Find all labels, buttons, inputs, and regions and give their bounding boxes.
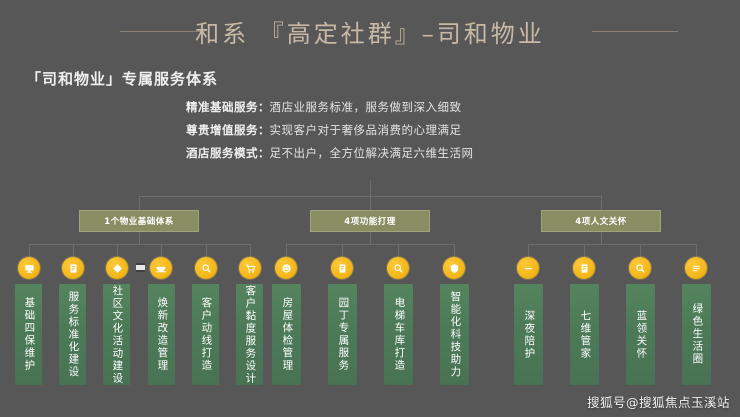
bullet-separator: ： bbox=[258, 145, 270, 161]
category-box-1[interactable]: 1个物业基础体系 bbox=[79, 210, 199, 232]
list-item: 尊贵增值服务 ： 实现客户对于奢侈品消费的心理满足 bbox=[186, 122, 606, 145]
bullet-label: 酒店服务模式 bbox=[186, 145, 258, 161]
clipboard-icon[interactable] bbox=[62, 257, 84, 279]
bullet-text: 实现客户对于奢侈品消费的心理满足 bbox=[270, 122, 462, 138]
service-bar-label: 房屋体检管理 bbox=[280, 297, 294, 372]
watermark: 搜狐号@搜狐焦点玉溪站 bbox=[587, 392, 730, 411]
connector-root-drop-3 bbox=[601, 196, 602, 210]
minus-icon[interactable] bbox=[517, 257, 539, 279]
slide-canvas: 和系 『高定社群』–司和物业 「司和物业」专属服务体系 精准基础服务 ： 酒店业… bbox=[0, 0, 740, 417]
title-row: 和系 『高定社群』–司和物业 bbox=[0, 14, 740, 48]
service-bar-label: 客户动线打造 bbox=[199, 297, 213, 372]
service-bar[interactable]: 焕新改造管理 bbox=[148, 284, 175, 385]
list-icon[interactable] bbox=[685, 257, 707, 279]
connector-g3-drop-2 bbox=[584, 244, 585, 258]
category-box-2[interactable]: 4项功能打理 bbox=[310, 210, 430, 232]
service-bar-label: 服务标准化建设 bbox=[66, 291, 80, 379]
service-bar[interactable]: 服务标准化建设 bbox=[59, 284, 86, 385]
service-bar-label: 七维管家 bbox=[578, 310, 592, 360]
connector-g2-stem bbox=[370, 232, 371, 244]
connector-root-drop-2 bbox=[370, 196, 371, 210]
monitor-icon[interactable] bbox=[18, 257, 40, 279]
connector-g3-bus bbox=[528, 244, 696, 245]
category-box-3-label: 4项人文关怀 bbox=[575, 215, 626, 227]
smile-icon[interactable] bbox=[275, 257, 297, 279]
diamond-icon[interactable] bbox=[106, 257, 128, 279]
decor-artifact bbox=[136, 263, 145, 272]
service-bar[interactable]: 七维管家 bbox=[570, 284, 599, 385]
bullet-separator: ： bbox=[258, 99, 270, 115]
service-bar-label: 蓝领关怀 bbox=[634, 310, 648, 360]
connector-g1-drop-3 bbox=[117, 244, 118, 258]
connector-g1-drop-5 bbox=[206, 244, 207, 258]
category-box-2-label: 4项功能打理 bbox=[344, 215, 395, 227]
connector-g3-drop-4 bbox=[696, 244, 697, 258]
service-bar-label: 智能化科技助力 bbox=[448, 291, 462, 379]
service-bar[interactable]: 电梯车库打造 bbox=[384, 284, 413, 385]
service-bar[interactable]: 绿色生活圈 bbox=[682, 284, 711, 385]
category-box-1-label: 1个物业基础体系 bbox=[104, 215, 173, 227]
service-bar[interactable]: 客户动线打造 bbox=[192, 284, 219, 385]
service-bar-label: 园丁专属服务 bbox=[336, 297, 350, 372]
service-bar[interactable]: 基础四保维护 bbox=[15, 284, 42, 385]
connector-g1-stem bbox=[139, 232, 140, 244]
service-description-list: 精准基础服务 ： 酒店业服务标准，服务做到深入细致 尊贵增值服务 ： 实现客户对… bbox=[186, 99, 606, 168]
bowl-icon[interactable] bbox=[150, 257, 172, 279]
service-bar-label: 焕新改造管理 bbox=[155, 297, 169, 372]
cart-icon[interactable] bbox=[239, 257, 261, 279]
service-bar[interactable]: 房屋体检管理 bbox=[272, 284, 301, 385]
bullet-text: 足不出户，全方位解决满足六维生活网 bbox=[270, 145, 474, 161]
connector-g2-drop-2 bbox=[342, 244, 343, 258]
search-icon[interactable] bbox=[195, 257, 217, 279]
service-bar[interactable]: 深夜陪护 bbox=[514, 284, 543, 385]
document-icon[interactable] bbox=[331, 257, 353, 279]
connector-g3-stem bbox=[601, 232, 602, 244]
list-item: 酒店服务模式 ： 足不出户，全方位解决满足六维生活网 bbox=[186, 145, 606, 168]
bullet-label: 尊贵增值服务 bbox=[186, 122, 258, 138]
connector-g1-drop-6 bbox=[250, 244, 251, 258]
search-icon[interactable] bbox=[629, 257, 651, 279]
service-bar-label: 客户黏度服务设计 bbox=[243, 285, 257, 385]
bullet-label: 精准基础服务 bbox=[186, 99, 258, 115]
bullet-separator: ： bbox=[258, 122, 270, 138]
service-bar-label: 绿色生活圈 bbox=[690, 303, 704, 366]
connector-g2-drop-1 bbox=[286, 244, 287, 258]
connector-g2-drop-4 bbox=[454, 244, 455, 258]
connector-g1-bus bbox=[29, 244, 250, 245]
connector-g1-drop-2 bbox=[73, 244, 74, 258]
connector-g2-drop-3 bbox=[398, 244, 399, 258]
connector-g1-drop-4 bbox=[161, 244, 162, 258]
service-bar[interactable]: 蓝领关怀 bbox=[626, 284, 655, 385]
section-subtitle: 「司和物业」专属服务体系 bbox=[26, 68, 218, 89]
category-box-3[interactable]: 4项人文关怀 bbox=[541, 210, 661, 232]
service-bar[interactable]: 园丁专属服务 bbox=[328, 284, 357, 385]
search-icon[interactable] bbox=[387, 257, 409, 279]
service-bar[interactable]: 客户黏度服务设计 bbox=[236, 284, 263, 385]
page-title: 和系 『高定社群』–司和物业 bbox=[195, 14, 545, 49]
connector-g3-drop-1 bbox=[528, 244, 529, 258]
shield-icon[interactable] bbox=[443, 257, 465, 279]
document-icon[interactable] bbox=[573, 257, 595, 279]
service-bar[interactable]: 智能化科技助力 bbox=[440, 284, 469, 385]
bullet-text: 酒店业服务标准，服务做到深入细致 bbox=[270, 99, 462, 115]
service-bar-label: 深夜陪护 bbox=[522, 310, 536, 360]
connector-root-drop-1 bbox=[139, 196, 140, 210]
service-bar-label: 电梯车库打造 bbox=[392, 297, 406, 372]
connector-g1-drop-1 bbox=[29, 244, 30, 258]
service-bar-label: 基础四保维护 bbox=[22, 297, 36, 372]
service-bar-label: 社区文化活动建设 bbox=[110, 285, 124, 385]
service-bar[interactable]: 社区文化活动建设 bbox=[103, 284, 130, 385]
connector-g2-bus bbox=[286, 244, 454, 245]
list-item: 精准基础服务 ： 酒店业服务标准，服务做到深入细致 bbox=[186, 99, 606, 122]
connector-root-stem bbox=[370, 180, 371, 196]
connector-g3-drop-3 bbox=[640, 244, 641, 258]
